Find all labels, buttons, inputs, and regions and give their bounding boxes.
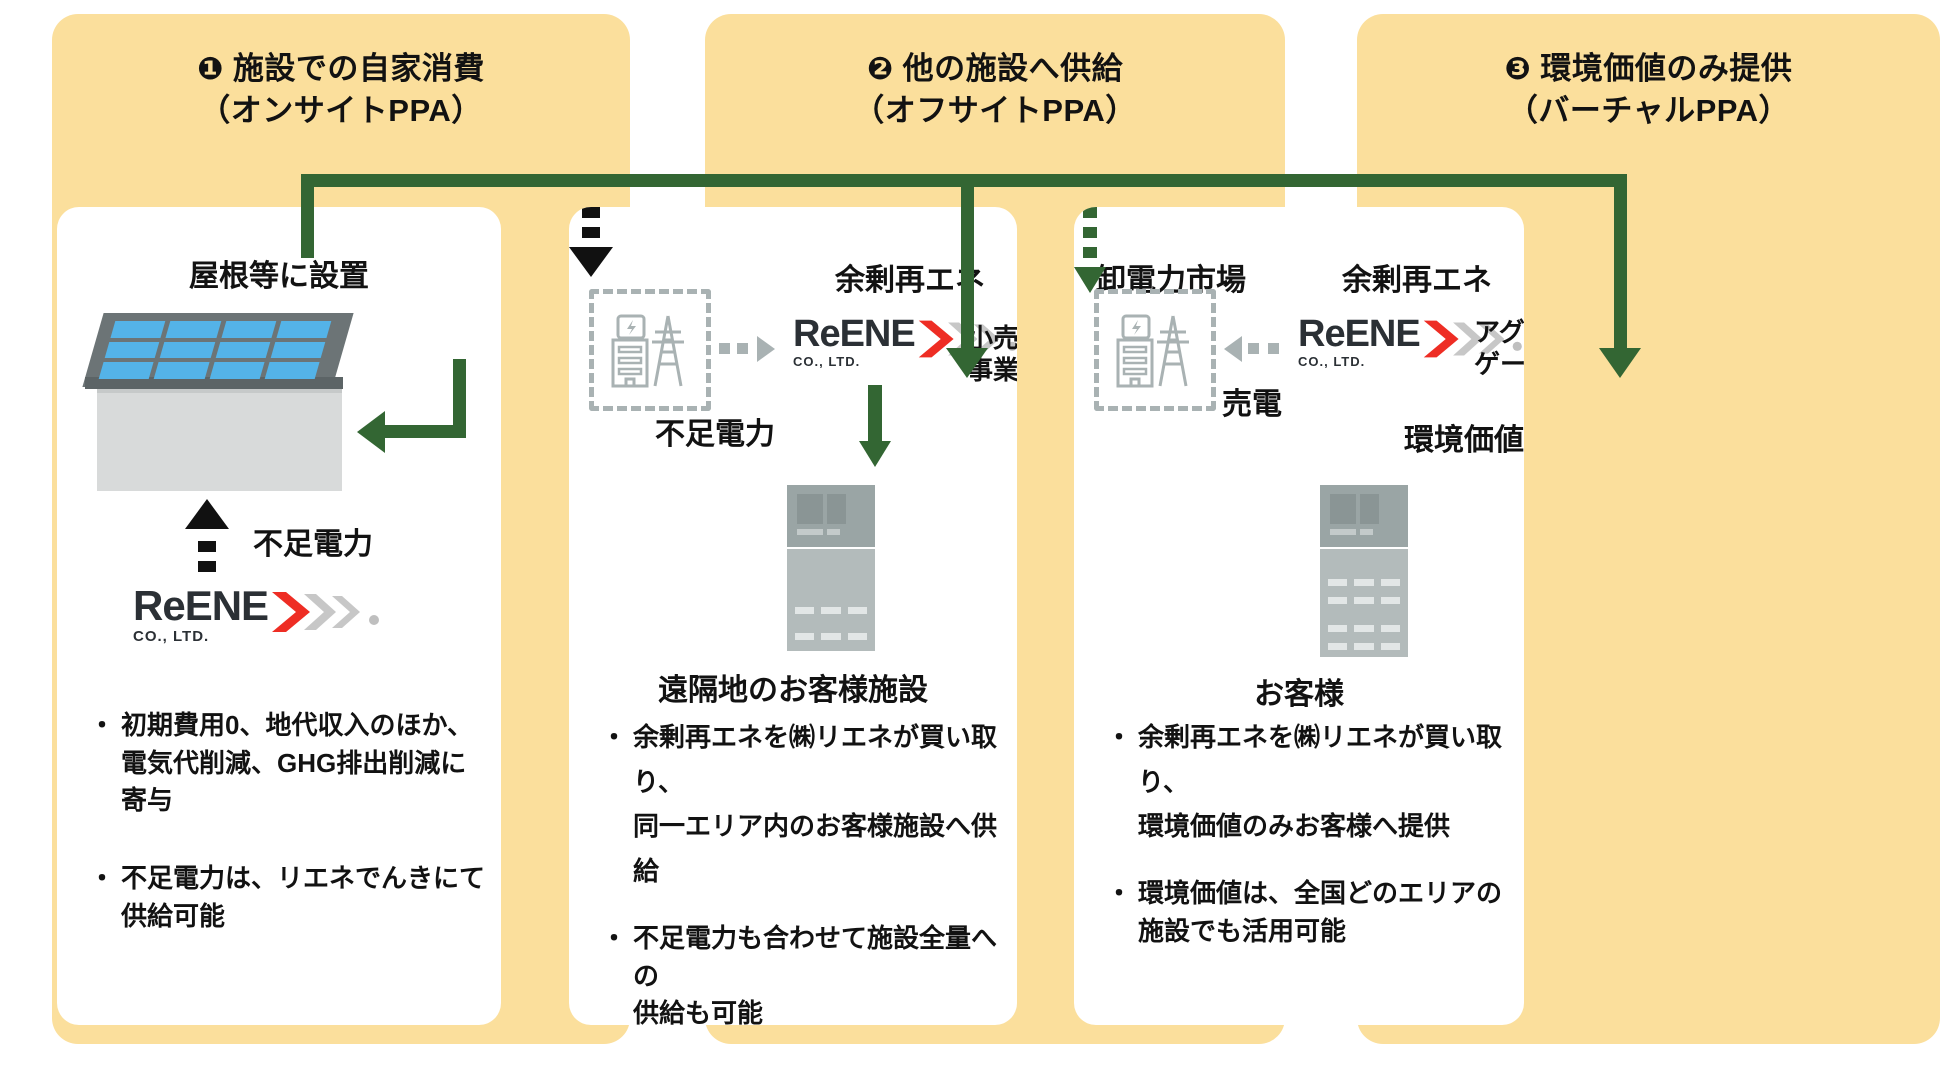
reene-to-grid-dotted-arrow [1224, 335, 1292, 361]
reene-logo-sub: CO., LTD. [1298, 355, 1420, 368]
surplus-green-arrow [859, 385, 891, 471]
bullet-line: 施設でも活用可能 [1138, 913, 1508, 951]
card-offsite-ppa: 余剰再エネ [569, 207, 1017, 1025]
panel-2-title: ❷ 他の施設へ供給 （オフサイトPPA） [705, 48, 1285, 131]
green-arrowhead-panel3 [1599, 348, 1641, 378]
panel-3-title: ❸ 環境価値のみ提供 （バーチャルPPA） [1357, 48, 1940, 131]
panel-3-bullets: 余剰再エネを㈱リエネが買い取り、 環境価値のみお客様へ提供 環境価値は、全国どの… [1108, 715, 1508, 977]
panel-3-title-line2: （バーチャルPPA） [1357, 90, 1940, 132]
bullet-line: 電気代削減、GHG排出削減に寄与 [121, 745, 485, 820]
bullet-item: 不足電力は、リエネでんきにて 供給可能 [91, 860, 485, 935]
shortfall-dashed-arrow [185, 499, 229, 585]
bullet-item: 余剰再エネを㈱リエネが買い取り、 環境価値のみお客様へ提供 [1108, 715, 1508, 849]
reene-logo: ReENE CO., LTD. [133, 585, 388, 644]
customer-building-icon [1320, 485, 1408, 657]
bullet-line: 供給可能 [121, 898, 485, 936]
green-connector-drop-panel2 [961, 174, 974, 350]
sell-power-label: 売電 [1222, 379, 1282, 423]
bullet-line: 不足電力も合わせて施設全量への [633, 920, 1001, 995]
install-label: 屋根等に設置 [57, 251, 501, 295]
bullet-item: 余剰再エネを㈱リエネが買い取り、 同一エリア内のお客様施設へ供給 [603, 715, 1001, 894]
remote-customer-building-icon [787, 485, 875, 651]
card-virtual-ppa: 卸電力市場 余剰再エネ [1074, 207, 1524, 1025]
aggregator-label-line2: ゲーター [1474, 349, 1524, 381]
grid-to-reene-dotted-arrow [719, 335, 787, 361]
bullet-line: 環境価値のみお客様へ提供 [1138, 804, 1508, 849]
aggregator-label-line1: アグリ [1474, 317, 1524, 349]
card-onsite-ppa: 屋根等に設置 [57, 207, 501, 1025]
solar-panel-cells [99, 321, 332, 379]
green-connector-drop-panel3 [1614, 174, 1627, 350]
panel-2-title-line2: （オフサイトPPA） [705, 90, 1285, 132]
bullet-line: 環境価値は、全国どのエリアの [1138, 875, 1508, 913]
bullet-line: 余剰再エネを㈱リエネが買い取り、 [633, 715, 1001, 804]
reene-logo-name: ReENE [1298, 315, 1420, 353]
surplus-energy-label: 余剰再エネ [1342, 255, 1492, 299]
power-grid-icon [589, 289, 711, 411]
self-consumption-loop-arrow [357, 359, 487, 469]
panel-1-bullets: 初期費用0、地代収入のほか、 電気代削減、GHG排出削減に寄与 不足電力は、リエ… [91, 707, 485, 961]
diagram-canvas: ❶ 施設での自家消費 （オンサイトPPA） 屋根等に設置 [0, 0, 1957, 1073]
panel-1-title: ❶ 施設での自家消費 （オンサイトPPA） [52, 48, 630, 131]
bullet-item: 環境価値は、全国どのエリアの 施設でも活用可能 [1108, 875, 1508, 950]
panel-2-title-line1: ❷ 他の施設へ供給 [705, 48, 1285, 90]
bullet-item: 不足電力も合わせて施設全量への 供給も可能 [603, 920, 1001, 1025]
env-value-label: 環境価値 [1404, 415, 1524, 459]
panel-2-bullets: 余剰再エネを㈱リエネが買い取り、 同一エリア内のお客様施設へ供給 不足電力も合わ… [603, 715, 1001, 1025]
bullet-line: 同一エリア内のお客様施設へ供給 [633, 804, 1001, 893]
remote-facility-label: 遠隔地のお客様施設 [569, 665, 1017, 709]
bullet-item: 初期費用0、地代収入のほか、 電気代削減、GHG排出削減に寄与 [91, 707, 485, 820]
customer-label: お客様 [1074, 669, 1524, 713]
shortfall-dashed-arrow [569, 207, 613, 293]
reene-logo-sub: CO., LTD. [793, 355, 915, 368]
bullet-line: 初期費用0、地代収入のほか、 [121, 707, 485, 745]
power-grid-icon [1094, 289, 1216, 411]
reene-logo-sub: CO., LTD. [133, 629, 268, 644]
green-arrowhead-panel2 [946, 348, 988, 378]
reene-logo-name: ReENE [793, 315, 915, 353]
panel-1-title-line1: ❶ 施設での自家消費 [52, 48, 630, 90]
shortfall-label: 不足電力 [253, 519, 373, 563]
panel-3-title-line1: ❸ 環境価値のみ提供 [1357, 48, 1940, 90]
bullet-line: 供給も可能 [633, 995, 1001, 1025]
panel-1-title-line2: （オンサイトPPA） [52, 90, 630, 132]
reene-logo-name: ReENE [133, 585, 268, 627]
reene-chevrons-icon [270, 588, 388, 636]
green-connector-drop-panel1 [301, 174, 314, 258]
shortfall-label: 不足電力 [655, 409, 775, 453]
aggregator-label: アグリ ゲーター [1474, 317, 1524, 380]
bullet-line: 不足電力は、リエネでんきにて [121, 860, 485, 898]
env-value-dashed-green-arrow [1074, 207, 1106, 299]
solar-building-icon [77, 299, 357, 499]
bullet-line: 余剰再エネを㈱リエネが買い取り、 [1138, 715, 1508, 804]
